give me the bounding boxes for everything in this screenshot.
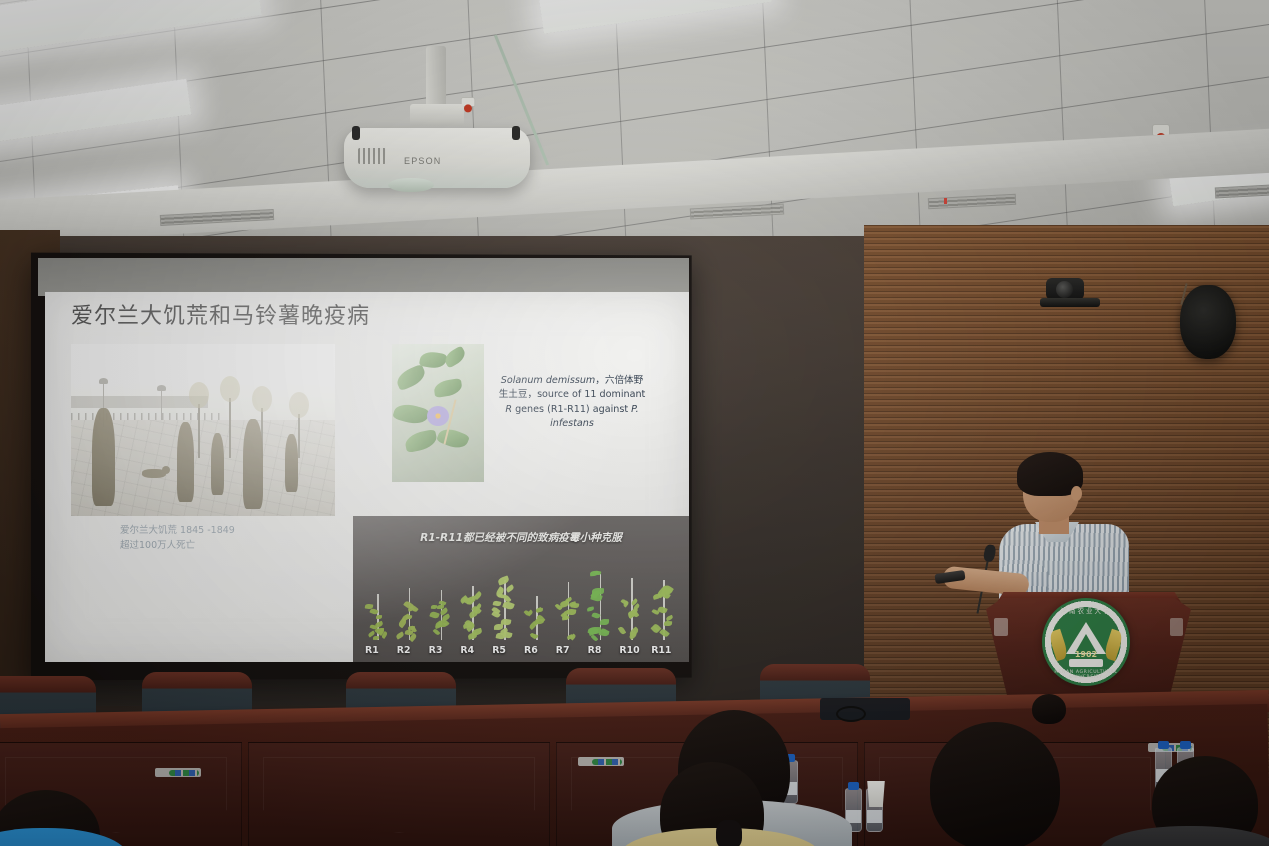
r-gene-label-r2: R2 <box>397 645 411 656</box>
emblem-chinese-name: 河南农业大学 <box>1042 605 1130 615</box>
paper-cup <box>866 781 886 807</box>
plant-leaf <box>570 602 579 608</box>
photo-leaf <box>403 429 438 453</box>
audience-head <box>1032 694 1066 724</box>
photo-statue <box>177 422 194 502</box>
plant-leaf <box>404 629 413 635</box>
photo-leaf <box>433 378 463 398</box>
plant-leaf <box>501 618 512 625</box>
projector-ceiling-mount <box>426 46 446 108</box>
plant-leaf <box>430 605 436 610</box>
plant-leaf <box>472 628 483 637</box>
r-gene-label-r1: R1 <box>365 645 379 656</box>
solanum-species-name: Solanum demissum <box>501 375 596 386</box>
r-gene-plant <box>459 562 485 640</box>
r-gene-label-r10: R10 <box>619 645 639 656</box>
desk-control-panel[interactable] <box>578 757 624 766</box>
plant-foliage <box>555 596 581 640</box>
plant-leaf <box>395 631 404 639</box>
headphone-cable <box>836 706 866 722</box>
wall-mounted-ptz-camera <box>1040 278 1102 312</box>
plant-foliage <box>428 599 454 640</box>
plant-leaf <box>586 606 594 611</box>
control-panel-buttons[interactable] <box>169 770 199 776</box>
photo-quay-wall <box>71 396 208 408</box>
photo-statue <box>243 419 263 509</box>
plant-leaf <box>562 616 569 621</box>
projection-screen-top-band <box>38 258 689 296</box>
photo-leaf <box>441 345 467 368</box>
projector-brand-label: EPSON <box>404 156 442 166</box>
audience-ponytail <box>716 820 742 846</box>
r-gene-plant <box>618 562 644 640</box>
solanum-caption-part-a: source of 11 dominant <box>537 389 645 400</box>
emblem-english-name: HENAN AGRICULTURAL UNIVERSITY <box>1042 670 1130 680</box>
plant-leaf <box>659 628 670 638</box>
bottle-cap <box>1158 741 1169 749</box>
projector-mount-plate <box>410 104 464 126</box>
projector-arm-left <box>352 126 360 140</box>
r-gene-plant <box>523 562 549 640</box>
r-gene-label-r5: R5 <box>492 645 506 656</box>
plant-foliage <box>523 607 549 640</box>
photo-tree <box>198 404 200 458</box>
plant-leaf <box>599 619 608 625</box>
plant-foliage <box>364 603 390 640</box>
r-gene-plant <box>396 562 422 640</box>
plant-foliage <box>618 590 644 640</box>
plant-leaf <box>497 575 510 585</box>
photo-purple-flower <box>427 406 449 426</box>
plant-foliage <box>396 603 422 640</box>
plant-foliage <box>459 593 485 640</box>
r-gene-panel-headline: R1-R11都已经被不同的致病疫霉小种克服 <box>353 530 689 545</box>
slide-title: 爱尔兰大饥荒和马铃薯晚疫病 <box>71 298 370 330</box>
r-gene-plant <box>364 562 390 640</box>
ceiling: EPSON <box>0 0 1269 252</box>
r-gene-plant <box>650 562 676 640</box>
plant-foliage <box>650 587 676 640</box>
plant-leaf <box>559 600 569 608</box>
r-gene-panel: R1-R11都已经被不同的致病疫霉小种克服 R1R2R3R4R5R6R7R8R1… <box>353 516 689 662</box>
solanum-caption-part-b: genes (R1-R11) against <box>512 404 631 415</box>
bottle-cap <box>848 782 859 790</box>
bottle-label <box>867 810 882 823</box>
lecture-hall-photo: EPSON 爱尔兰大饥荒和马铃薯晚疫病 <box>0 0 1269 846</box>
projected-slide: 爱尔兰大饥荒和马铃薯晚疫病 爱尔兰大饥荒 1845 -1849 超过100万人死… <box>45 292 689 662</box>
photo-tree <box>298 414 300 458</box>
podium-side-trim-left <box>994 618 1008 636</box>
projector-vent-grille <box>358 148 386 164</box>
famine-caption-line-1: 爱尔兰大饥荒 1845 -1849 <box>120 524 235 539</box>
photo-tree <box>229 398 231 458</box>
plant-leaf <box>530 632 538 640</box>
plant-leaf <box>432 628 440 636</box>
plant-leaf <box>618 626 626 635</box>
solanum-caption-italic-r: R <box>505 404 512 415</box>
photo-statue <box>92 408 115 506</box>
presenter-ear <box>1071 486 1082 501</box>
r-gene-plant-row <box>363 562 681 640</box>
ceiling-grid-line <box>904 0 923 252</box>
plant-leaf <box>373 636 379 640</box>
photo-dog-statue <box>142 469 166 478</box>
projector-arm-right <box>512 126 520 140</box>
desk-control-panel[interactable] <box>155 768 201 777</box>
photo-lamppost <box>161 390 163 420</box>
solanum-demissum-photo <box>392 344 484 482</box>
r-gene-label-r3: R3 <box>429 645 443 656</box>
plant-leaf <box>591 612 600 620</box>
photo-leaf <box>436 425 470 452</box>
photo-statue <box>285 434 298 492</box>
ceiling-grid-line <box>611 0 630 252</box>
r-gene-label-r8: R8 <box>588 645 602 656</box>
emblem-book-icon <box>1069 659 1103 667</box>
r-gene-label-r7: R7 <box>556 645 570 656</box>
famine-caption-line-2: 超过100万人死亡 <box>120 539 235 554</box>
photo-leaf <box>392 400 430 427</box>
plant-leaf <box>376 615 382 619</box>
r-gene-plant <box>428 562 454 640</box>
plant-leaf <box>429 611 439 620</box>
r-gene-label-r11: R11 <box>651 645 671 656</box>
r-gene-plant <box>555 562 581 640</box>
ceiling-grid-line <box>1197 0 1216 246</box>
plant-leaf <box>406 615 412 620</box>
indicator-dot <box>944 198 947 204</box>
projector-lens <box>388 178 434 192</box>
plant-foliage <box>587 563 613 640</box>
r-gene-label-r4: R4 <box>460 645 474 656</box>
plant-leaf <box>588 627 600 634</box>
plant-leaf <box>657 606 668 615</box>
desk-front-panel <box>248 742 550 846</box>
plant-leaf <box>437 605 444 609</box>
plant-leaf <box>536 619 544 625</box>
r-gene-label-row: R1R2R3R4R5R6R7R8R10R11 <box>363 645 681 659</box>
emblem-founding-year: 1902 <box>1042 650 1130 659</box>
plant-leaf <box>505 584 514 593</box>
audience-head <box>930 722 1060 846</box>
university-emblem: 河南农业大学 1902 HENAN AGRICULTURAL UNIVERSIT… <box>1042 598 1130 686</box>
bottle-cap <box>1180 741 1191 749</box>
plant-leaf <box>664 621 672 627</box>
control-panel-buttons[interactable] <box>592 759 622 765</box>
plant-foliage <box>491 576 517 640</box>
solanum-caption: Solanum demissum，六倍体野生土豆，source of 11 do… <box>497 374 647 432</box>
photo-statue <box>211 433 224 495</box>
famine-caption: 爱尔兰大饥荒 1845 -1849 超过100万人死亡 <box>120 524 235 553</box>
podium-side-trim-right <box>1170 618 1183 636</box>
famine-memorial-photo <box>71 344 335 516</box>
photo-leaf <box>394 363 428 391</box>
r-gene-plant <box>587 562 613 640</box>
plant-leaf <box>536 608 543 612</box>
wall-speaker <box>1180 285 1236 359</box>
r-gene-plant <box>491 562 517 640</box>
plant-leaf <box>623 600 630 607</box>
r-gene-label-r6: R6 <box>524 645 538 656</box>
